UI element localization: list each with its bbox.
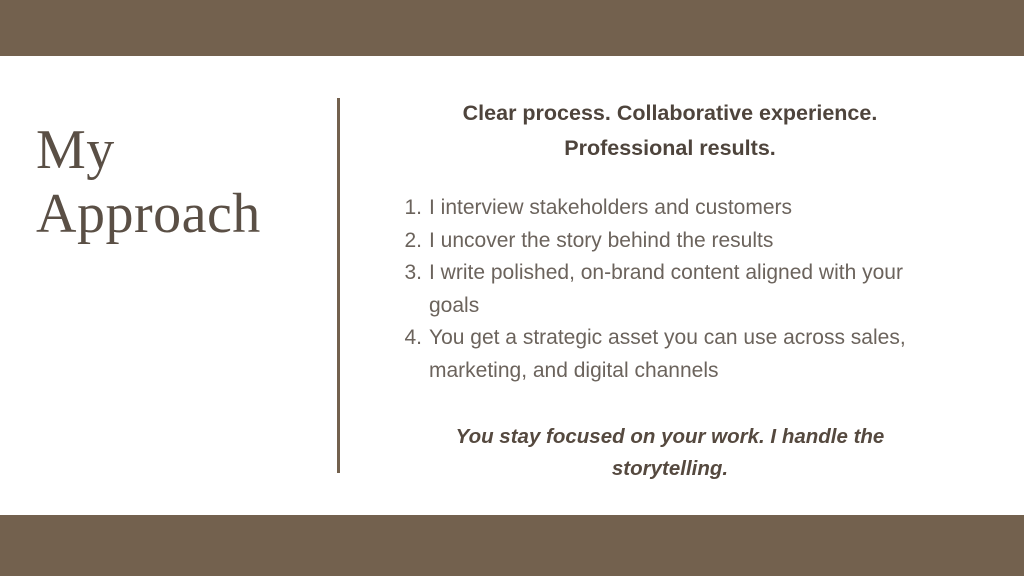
list-item: 2. I uncover the story behind the result… [396,225,944,258]
page-title-line-2: Approach [36,182,321,246]
list-item: 4. You get a strategic asset you can use… [396,322,944,387]
closing-statement: You stay focused on your work. I handle … [396,421,944,485]
page-title: My Approach [36,118,321,246]
steps-list: 1. I interview stakeholders and customer… [396,192,944,387]
list-item-number: 3. [396,257,422,290]
list-item: 3. I write polished, on-brand content al… [396,257,944,322]
page-title-line-1: My [36,118,321,182]
vertical-divider [337,98,340,473]
list-item: 1. I interview stakeholders and customer… [396,192,944,225]
bottom-band [0,515,1024,576]
slide: My Approach Clear process. Collaborative… [0,0,1024,576]
top-band [0,0,1024,56]
list-item-text: I interview stakeholders and customers [429,192,944,225]
list-item-text: I uncover the story behind the results [429,225,944,258]
content-column: Clear process. Collaborative experience.… [396,96,944,485]
list-item-number: 4. [396,322,422,355]
list-item-text: I write polished, on-brand content align… [429,257,944,322]
content-headline: Clear process. Collaborative experience.… [396,96,944,166]
list-item-text: You get a strategic asset you can use ac… [429,322,944,387]
list-item-number: 2. [396,225,422,258]
list-item-number: 1. [396,192,422,225]
